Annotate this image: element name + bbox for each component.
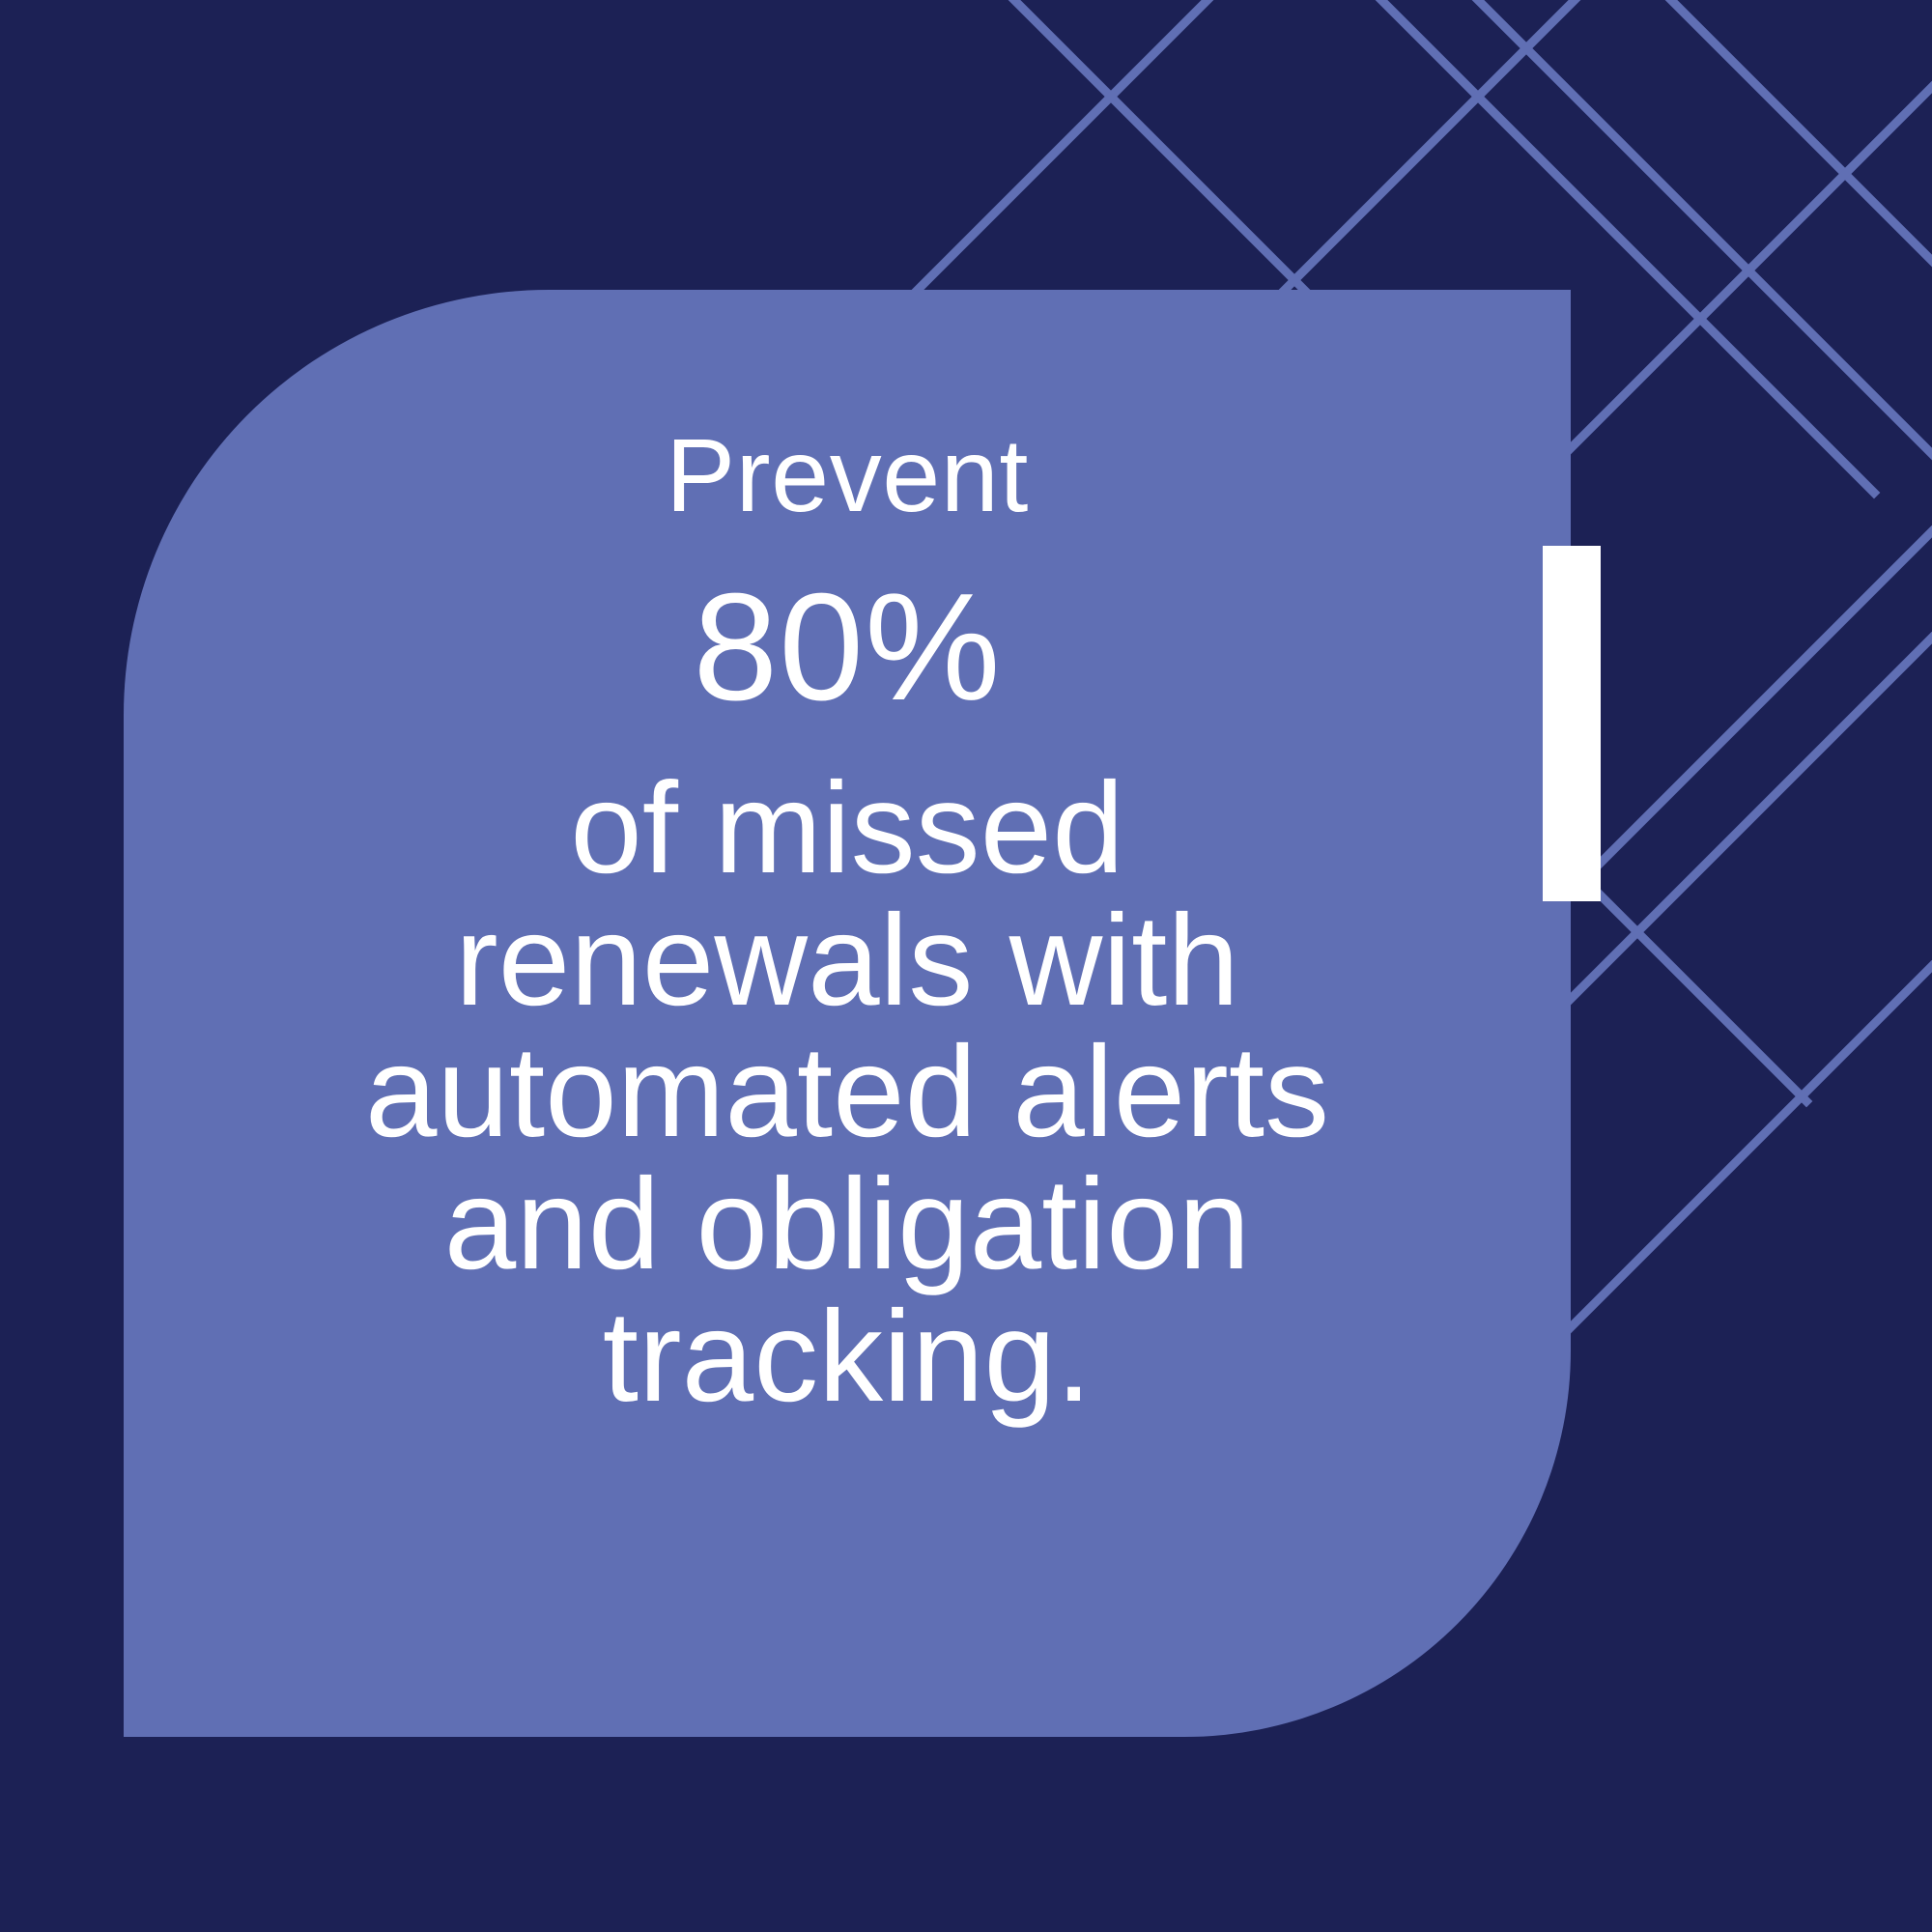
body-line-2: renewals with [365, 895, 1329, 1028]
body-text: of missed renewals with automated alerts… [365, 763, 1329, 1423]
body-line-5: tracking. [365, 1292, 1329, 1424]
accent-bar [1543, 546, 1601, 901]
body-line-4: and obligation [365, 1159, 1329, 1292]
stat-card-content: Prevent 80% of missed renewals with auto… [124, 290, 1571, 1737]
stat-value: 80% [693, 568, 1001, 728]
headline-text: Prevent [666, 423, 1029, 527]
body-line-3: automated alerts [365, 1027, 1329, 1159]
body-line-1: of missed [365, 763, 1329, 895]
stat-card-canvas: Prevent 80% of missed renewals with auto… [0, 0, 1932, 1932]
